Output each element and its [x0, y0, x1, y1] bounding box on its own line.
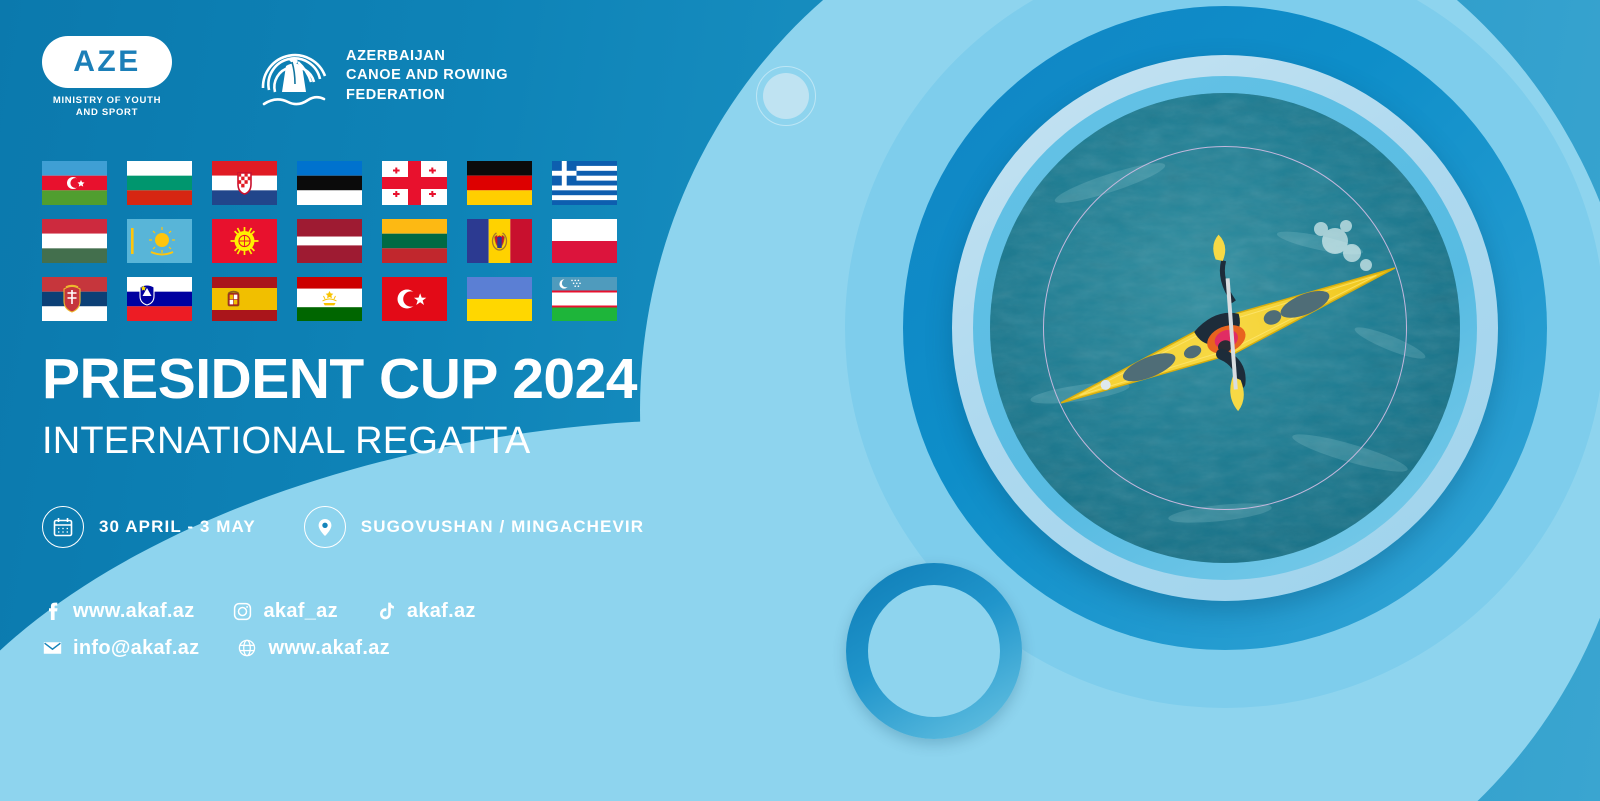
contact-facebook-label: www.akaf.az [73, 600, 195, 623]
flag-slovenia [127, 277, 192, 321]
ministry-subtitle: MINISTRY OF YOUTH AND SPORT [42, 95, 172, 119]
contact-email[interactable]: info@akaf.az [42, 637, 199, 660]
contact-row-mail: info@akaf.az www.akaf.az [42, 637, 1600, 660]
flag-estonia [297, 161, 362, 205]
flag-spain [212, 277, 277, 321]
poster-content: AZE MINISTRY OF YOUTH AND SPORT [0, 0, 1600, 660]
flag-turkey [382, 277, 447, 321]
participating-countries-flags [42, 161, 642, 321]
instagram-icon [233, 601, 253, 621]
ministry-subtitle-line2: AND SPORT [42, 107, 172, 119]
event-location-text: SUGOVUSHAN / MINGACHEVIR [361, 517, 644, 537]
federation-line2: CANOE AND ROWING [346, 66, 508, 85]
flag-ukraine [467, 277, 532, 321]
federation-name: AZERBAIJAN CANOE AND ROWING FEDERATION [346, 47, 508, 104]
flag-croatia [212, 161, 277, 205]
aze-pill-logo: AZE [42, 36, 172, 88]
page-title: PRESIDENT CUP 2024 [42, 351, 1600, 408]
event-meta-row: 30 APRIL - 3 MAY SUGOVUSHAN / MINGACHEVI… [42, 506, 1600, 548]
page-subtitle: INTERNATIONAL REGATTA [42, 422, 1600, 460]
contact-row-social: www.akaf.az akaf_az [42, 600, 1600, 623]
contact-facebook[interactable]: www.akaf.az [42, 600, 195, 623]
flag-kazakhstan [127, 219, 192, 263]
flag-row-3 [42, 277, 642, 321]
globe-icon [237, 638, 257, 658]
title-block: PRESIDENT CUP 2024 INTERNATIONAL REGATTA [42, 351, 1600, 460]
logo-bar: AZE MINISTRY OF YOUTH AND SPORT [42, 36, 1600, 119]
map-pin-icon [304, 506, 346, 548]
contact-website-label: www.akaf.az [268, 637, 390, 660]
aze-logo-text: AZE [73, 45, 141, 79]
federation-line1: AZERBAIJAN [346, 47, 508, 66]
flag-greece [552, 161, 617, 205]
contact-tiktok[interactable]: akaf.az [376, 600, 476, 623]
event-location: SUGOVUSHAN / MINGACHEVIR [304, 506, 644, 548]
contact-tiktok-label: akaf.az [407, 600, 476, 623]
facebook-icon [42, 601, 62, 621]
flag-tajikistan [297, 277, 362, 321]
flag-poland [552, 219, 617, 263]
contact-instagram[interactable]: akaf_az [233, 600, 338, 623]
flag-latvia [297, 219, 362, 263]
contact-block: www.akaf.az akaf_az [42, 600, 1600, 660]
flag-row-1 [42, 161, 642, 205]
flag-bulgaria [127, 161, 192, 205]
canoe-rowing-federation-mark [256, 38, 332, 114]
flag-row-2 [42, 219, 642, 263]
flag-kyrgyzstan [212, 219, 277, 263]
contact-email-label: info@akaf.az [73, 637, 199, 660]
calendar-icon [42, 506, 84, 548]
contact-website[interactable]: www.akaf.az [237, 637, 390, 660]
tiktok-icon [376, 601, 396, 621]
ministry-logo: AZE MINISTRY OF YOUTH AND SPORT [42, 36, 172, 119]
event-date-text: 30 APRIL - 3 MAY [99, 517, 256, 537]
flag-moldova [467, 219, 532, 263]
contact-instagram-label: akaf_az [264, 600, 338, 623]
federation-line3: FEDERATION [346, 86, 508, 105]
poster-canvas: AZE MINISTRY OF YOUTH AND SPORT [0, 0, 1600, 801]
flag-hungary [42, 219, 107, 263]
ministry-subtitle-line1: MINISTRY OF YOUTH [42, 95, 172, 107]
federation-logo: AZERBAIJAN CANOE AND ROWING FEDERATION [256, 38, 508, 114]
flag-georgia [382, 161, 447, 205]
event-date: 30 APRIL - 3 MAY [42, 506, 256, 548]
flag-lithuania [382, 219, 447, 263]
flag-germany [467, 161, 532, 205]
flag-serbia [42, 277, 107, 321]
flag-uzbekistan [552, 277, 617, 321]
flag-azerbaijan [42, 161, 107, 205]
email-icon [42, 638, 62, 658]
